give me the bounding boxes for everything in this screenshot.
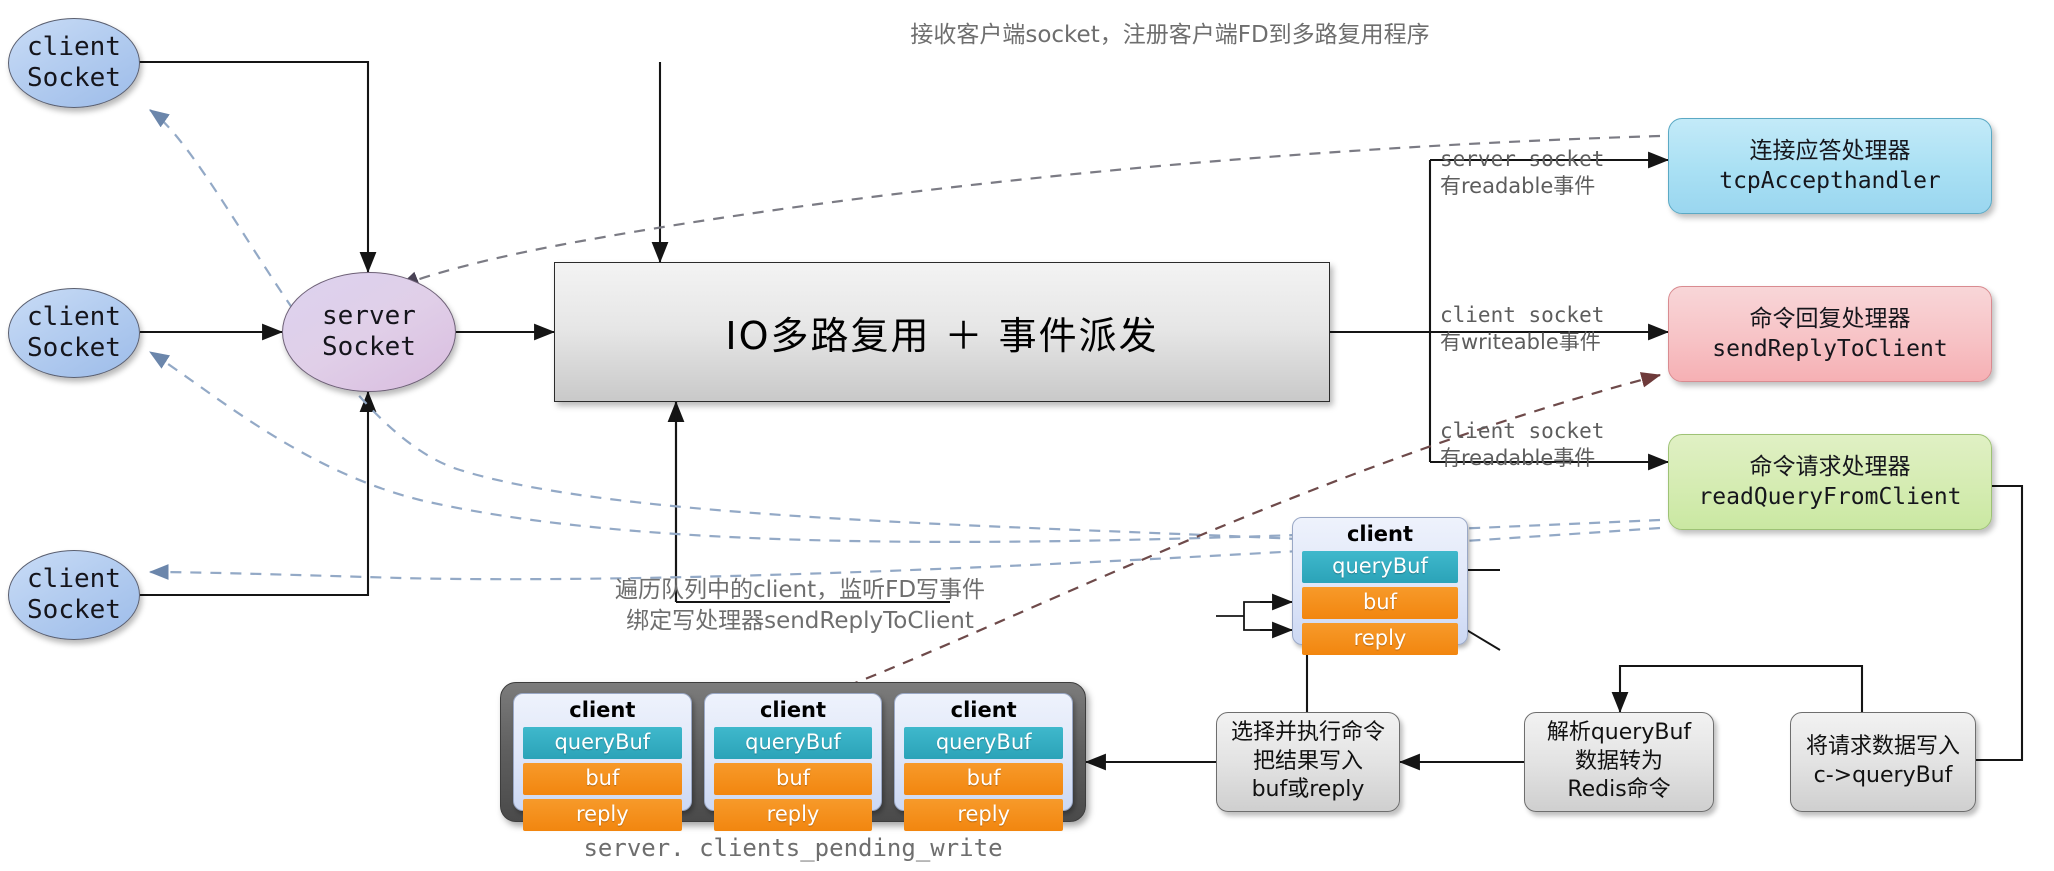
queue-client-1[interactable]: client queryBuf buf reply: [513, 693, 692, 811]
queue-caption-text: server. clients_pending_write: [583, 834, 1002, 862]
edge-label-query: client socket 有readable事件: [1440, 418, 1604, 473]
process-exec-command[interactable]: 选择并执行命令 把结果写入 buf或reply: [1216, 712, 1400, 812]
handler-send-reply-fn: sendReplyToClient: [1712, 334, 1947, 364]
queue-client-1-buf[interactable]: buf: [523, 763, 682, 795]
edge-label-accept-line2: 有readable事件: [1440, 173, 1604, 200]
queue-client-2[interactable]: client queryBuf buf reply: [704, 693, 883, 811]
queue-caption: server. clients_pending_write: [500, 832, 1086, 864]
edge-label-accept-line1: server socket: [1440, 146, 1604, 173]
process-exec-command-line2: 把结果写入: [1253, 748, 1363, 777]
process-write-querybuf[interactable]: 将请求数据写入 c->queryBuf: [1790, 712, 1976, 812]
process-parse-querybuf-line1: 解析queryBuf: [1547, 719, 1691, 748]
edge-label-reply-line1: client socket: [1440, 302, 1604, 329]
clients-pending-write-queue[interactable]: client queryBuf buf reply client queryBu…: [500, 682, 1086, 822]
queue-client-1-title: client: [569, 700, 635, 721]
queue-client-1-reply[interactable]: reply: [523, 799, 682, 831]
server-socket-line2: Socket: [322, 332, 416, 363]
server-socket-line1: server: [322, 301, 416, 332]
queue-client-3[interactable]: client queryBuf buf reply: [894, 693, 1073, 811]
edge-label-query-line2: 有readable事件: [1440, 445, 1604, 472]
queue-client-3-reply[interactable]: reply: [904, 799, 1063, 831]
client-struct-field-querybuf[interactable]: queryBuf: [1302, 551, 1458, 583]
queue-client-2-querybuf[interactable]: queryBuf: [714, 727, 873, 759]
caption-pending-write-line1: 遍历队列中的client，监听FD写事件: [560, 575, 1040, 606]
queue-client-2-buf[interactable]: buf: [714, 763, 873, 795]
client-socket-3[interactable]: client Socket: [8, 550, 140, 640]
diagram-canvas: client Socket client Socket client Socke…: [0, 0, 2054, 871]
caption-pending-write-line2: 绑定写处理器sendReplyToClient: [560, 606, 1040, 637]
process-exec-command-line1: 选择并执行命令: [1231, 719, 1385, 748]
client-socket-2-line1: client: [27, 302, 121, 333]
queue-client-3-title: client: [951, 700, 1017, 721]
handler-send-reply-title: 命令回复处理器: [1750, 304, 1911, 334]
handler-tcp-accept-title: 连接应答处理器: [1750, 136, 1911, 166]
io-multiplex-dispatch-label: IO多路复用 ＋ 事件派发: [725, 305, 1158, 360]
process-exec-command-line3: buf或reply: [1252, 776, 1365, 805]
queue-client-1-querybuf[interactable]: queryBuf: [523, 727, 682, 759]
client-socket-1-line2: Socket: [27, 63, 121, 94]
edge-label-accept: server socket 有readable事件: [1440, 146, 1604, 201]
handler-read-query-title: 命令请求处理器: [1750, 452, 1911, 482]
caption-pending-write: 遍历队列中的client，监听FD写事件 绑定写处理器sendReplyToCl…: [560, 575, 1040, 637]
client-socket-3-line1: client: [27, 564, 121, 595]
process-write-querybuf-line2: c->queryBuf: [1814, 762, 1953, 791]
process-parse-querybuf[interactable]: 解析queryBuf 数据转为 Redis命令: [1524, 712, 1714, 812]
client-socket-3-line2: Socket: [27, 595, 121, 626]
client-struct-card-title: client: [1347, 524, 1413, 545]
server-socket[interactable]: server Socket: [282, 272, 456, 392]
handler-tcp-accept[interactable]: 连接应答处理器 tcpAccepthandler: [1668, 118, 1992, 214]
client-struct-card[interactable]: client queryBuf buf reply: [1292, 517, 1468, 645]
client-socket-2-line2: Socket: [27, 333, 121, 364]
io-multiplex-dispatch-box[interactable]: IO多路复用 ＋ 事件派发: [554, 262, 1330, 402]
handler-tcp-accept-fn: tcpAccepthandler: [1719, 166, 1941, 196]
handler-read-query-fn: readQueryFromClient: [1698, 482, 1961, 512]
process-write-querybuf-line1: 将请求数据写入: [1806, 733, 1960, 762]
client-socket-1[interactable]: client Socket: [8, 18, 140, 108]
client-socket-1-line1: client: [27, 32, 121, 63]
process-parse-querybuf-line2: 数据转为: [1575, 748, 1663, 777]
edge-label-query-line1: client socket: [1440, 418, 1604, 445]
client-socket-2[interactable]: client Socket: [8, 288, 140, 378]
queue-client-3-buf[interactable]: buf: [904, 763, 1063, 795]
caption-accept-register-text: 接收客户端socket，注册客户端FD到多路复用程序: [910, 22, 1429, 48]
process-parse-querybuf-line3: Redis命令: [1567, 776, 1670, 805]
client-struct-field-reply[interactable]: reply: [1302, 623, 1458, 655]
queue-client-3-querybuf[interactable]: queryBuf: [904, 727, 1063, 759]
edge-label-reply-line2: 有writeable事件: [1440, 329, 1604, 356]
handler-read-query[interactable]: 命令请求处理器 readQueryFromClient: [1668, 434, 1992, 530]
handler-send-reply[interactable]: 命令回复处理器 sendReplyToClient: [1668, 286, 1992, 382]
edge-label-reply: client socket 有writeable事件: [1440, 302, 1604, 357]
queue-client-2-title: client: [760, 700, 826, 721]
client-struct-field-buf[interactable]: buf: [1302, 587, 1458, 619]
queue-client-2-reply[interactable]: reply: [714, 799, 873, 831]
caption-accept-register: 接收客户端socket，注册客户端FD到多路复用程序: [860, 20, 1480, 51]
